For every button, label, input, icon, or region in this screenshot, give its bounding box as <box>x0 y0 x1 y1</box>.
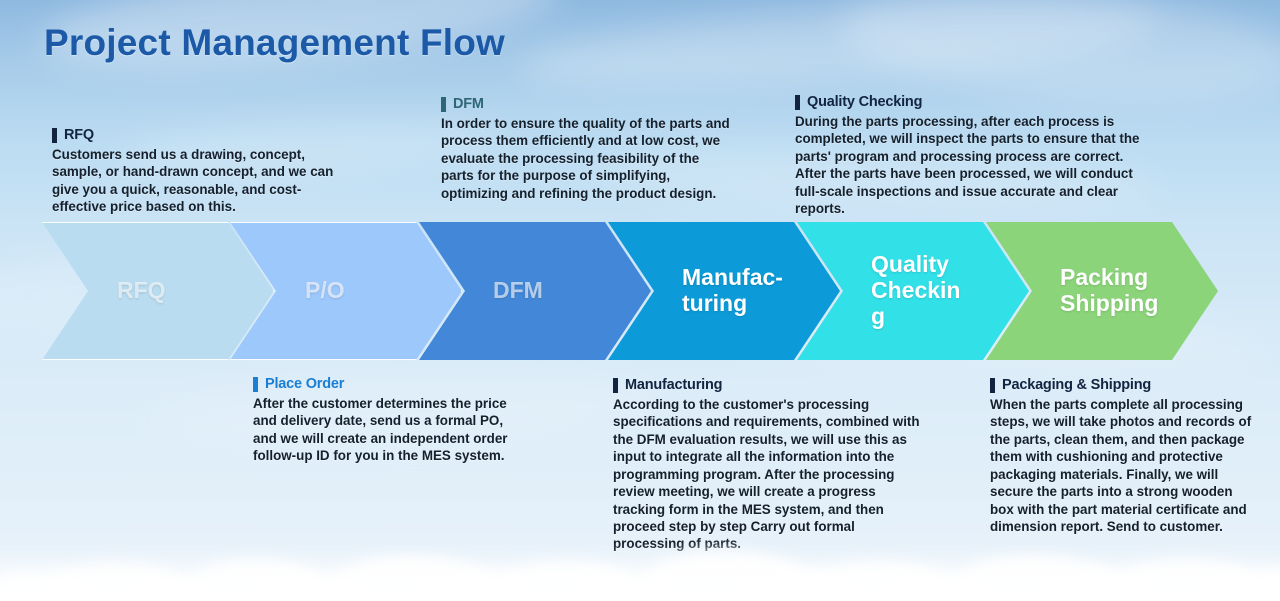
cloud-puff-icon <box>185 559 325 601</box>
callout-packaging-shipping: Packaging & ShippingWhen the parts compl… <box>990 377 1255 535</box>
callout-heading: DFM <box>453 96 484 112</box>
cloud-puff-icon <box>640 551 810 601</box>
callout-heading: Quality Checking <box>807 94 922 110</box>
callout-quality: Quality CheckingDuring the parts process… <box>795 94 1151 218</box>
cloud-puff-icon <box>950 555 1115 601</box>
callout-body: In order to ensure the quality of the pa… <box>441 115 733 202</box>
process-step-rfq[interactable]: RFQ <box>42 222 274 360</box>
process-flow-band: RFQP/ODFMManufac- turingQuality Checkin … <box>0 222 1280 364</box>
cloud-puff-icon <box>0 571 90 601</box>
accent-bar-icon <box>441 97 446 112</box>
cloud-puff-icon <box>490 561 640 601</box>
callout-heading-row: Quality Checking <box>795 94 1151 110</box>
slide-canvas: Project Management Flow RFQCustomers sen… <box>0 0 1280 601</box>
cloud-puff-icon <box>1110 559 1262 601</box>
cloud-puff-icon <box>260 573 364 601</box>
cloud-wisp-icon <box>518 0 1161 102</box>
callout-dfm: DFMIn order to ensure the quality of the… <box>441 96 733 202</box>
callout-heading: Packaging & Shipping <box>1002 377 1151 393</box>
callout-heading: RFQ <box>64 127 94 143</box>
callout-body: When the parts complete all processing s… <box>990 396 1255 535</box>
callout-body: According to the customer's processing s… <box>613 396 923 553</box>
callout-heading-row: Place Order <box>253 376 515 392</box>
callout-heading: Place Order <box>265 376 344 392</box>
accent-bar-icon <box>613 378 618 393</box>
accent-bar-icon <box>52 128 57 143</box>
callout-rfq: RFQCustomers send us a drawing, concept,… <box>52 127 352 216</box>
cloud-puff-icon <box>120 577 216 601</box>
cloud-puff-icon <box>1245 565 1280 601</box>
accent-bar-icon <box>253 377 258 392</box>
callout-heading-row: Manufacturing <box>613 377 923 393</box>
callout-heading-row: Packaging & Shipping <box>990 377 1255 393</box>
cloud-puff-icon <box>805 561 953 601</box>
cloud-puff-icon <box>1040 569 1160 601</box>
cloud-puff-icon <box>40 563 190 601</box>
callout-body: During the parts processing, after each … <box>795 113 1151 218</box>
callout-body: Customers send us a drawing, concept, sa… <box>52 146 352 216</box>
callout-heading-row: DFM <box>441 96 733 112</box>
page-title: Project Management Flow <box>44 22 505 64</box>
cloud-puff-icon <box>885 573 993 601</box>
cloud-puff-icon <box>1190 571 1280 601</box>
accent-bar-icon <box>990 378 995 393</box>
callout-place-order: Place OrderAfter the customer determines… <box>253 376 515 465</box>
cloud-puff-icon <box>415 569 533 601</box>
callout-heading: Manufacturing <box>625 377 722 393</box>
cloud-puff-icon <box>570 573 680 601</box>
callout-heading-row: RFQ <box>52 127 352 143</box>
accent-bar-icon <box>795 95 800 110</box>
callout-manufacturing: ManufacturingAccording to the customer's… <box>613 377 923 553</box>
callout-body: After the customer determines the price … <box>253 395 515 465</box>
process-step-label: RFQ <box>43 278 176 304</box>
cloud-puff-icon <box>330 555 490 601</box>
cloud-puff-icon <box>730 567 856 601</box>
